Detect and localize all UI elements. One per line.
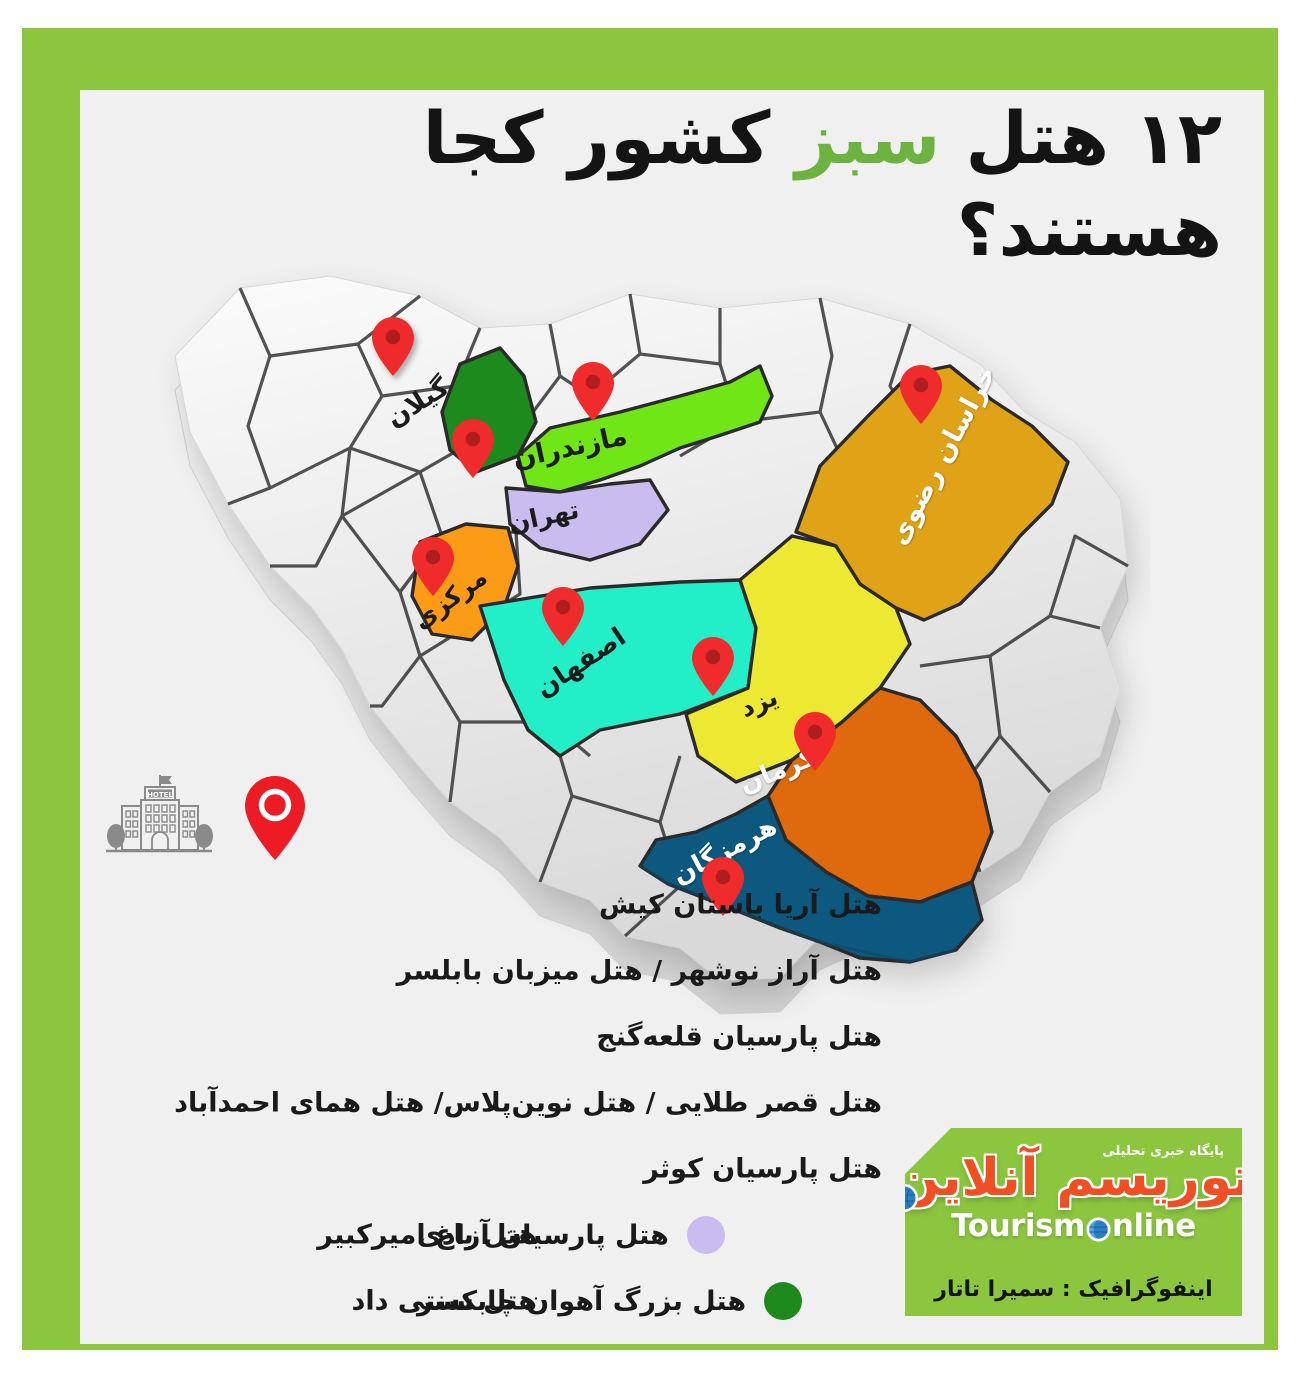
map-pin-icon xyxy=(242,774,308,862)
legend-item-parsian-azadi[interactable]: هتل پارسیان آزادی xyxy=(417,1216,725,1254)
hotel-sign-text: HOTEL xyxy=(147,791,173,799)
legend-item-label: هتل آراز نوشهر / هتل میزبان بابلسر xyxy=(156,956,882,987)
legend-item-label: هتل پارسیان کوثر xyxy=(156,1154,882,1185)
legend-item-label: هتل قصر طلایی / هتل نوین‌پلاس/ هتل همای … xyxy=(156,1088,882,1119)
legend-item-ghasr-talaei[interactable]: هتل قصر طلایی / هتل نوین‌پلاس/ هتل همای … xyxy=(72,1070,882,1136)
legend-item-araz-noshahr[interactable]: هتل آراز نوشهر / هتل میزبان بابلسر xyxy=(72,938,882,1004)
infographic-credit: اینفوگرافیک : سمیرا تاتار xyxy=(905,1277,1242,1302)
legend-item-parsian-kowsar[interactable]: هتل پارسیان کوثر xyxy=(72,1136,882,1202)
logo-name-english: Tourism nline xyxy=(951,1208,1196,1244)
legend-item-sonnati-dad[interactable]: هتل سنتی داد هتل بزرگ آهوان چابکسر xyxy=(72,1268,882,1334)
globe-o-icon xyxy=(1086,1214,1111,1239)
legend-item-aria-bastan-kish[interactable]: هتل آریا باستان کیش xyxy=(72,872,882,938)
legend-list: هتل آریا باستان کیش هتل آراز نوشهر / هتل… xyxy=(72,872,882,1334)
legend-item-parsian-qaleganj[interactable]: هتل پارسیان قلعه‌گنج xyxy=(72,1004,882,1070)
logo-name-persian: توریسم آنلاین xyxy=(895,1152,1252,1204)
hotel-building-icon: HOTEL xyxy=(100,772,218,864)
legend-item-bagh-amirkabir[interactable]: هتل باغ امیرکبیر هتل پارسیان آزادی xyxy=(72,1202,882,1268)
legend-item-label: هتل پارسیان آزادی xyxy=(417,1220,669,1251)
title-text-after: کشور کجا xyxy=(423,96,796,180)
logo-name-english-part1: Tourism xyxy=(951,1208,1085,1244)
page-title: ۱۲ هتل سبز کشور کجا هستند؟ xyxy=(162,92,1222,276)
legend-item-ahovan-chaboksar[interactable]: هتل بزرگ آهوان چابکسر xyxy=(417,1282,802,1320)
brand-logo-panel[interactable]: پایگاه خبری تحلیلی توریسم آنلاین Tourism xyxy=(905,1128,1242,1316)
title-text-before: ۱۲ هتل xyxy=(940,96,1222,180)
title-line-1: ۱۲ هتل سبز کشور کجا xyxy=(162,92,1222,184)
legend-item-label: هتل پارسیان قلعه‌گنج xyxy=(156,1022,882,1053)
legend-item-label: هتل آریا باستان کیش xyxy=(156,890,882,921)
legend-swatch xyxy=(687,1216,725,1254)
logo-name-persian-text: توریسم آنلاین xyxy=(895,1148,1252,1208)
logo-name-english-part2: nline xyxy=(1112,1208,1196,1244)
title-highlight-word: سبز xyxy=(795,96,940,180)
legend-swatch xyxy=(764,1282,802,1320)
infographic-poster: ۱۲ هتل سبز کشور کجا هستند؟ xyxy=(0,0,1300,1377)
title-line-2: هستند؟ xyxy=(162,184,1222,276)
legend-header-icons: HOTEL xyxy=(78,768,308,868)
legend-item-label: هتل بزرگ آهوان چابکسر xyxy=(417,1286,746,1317)
